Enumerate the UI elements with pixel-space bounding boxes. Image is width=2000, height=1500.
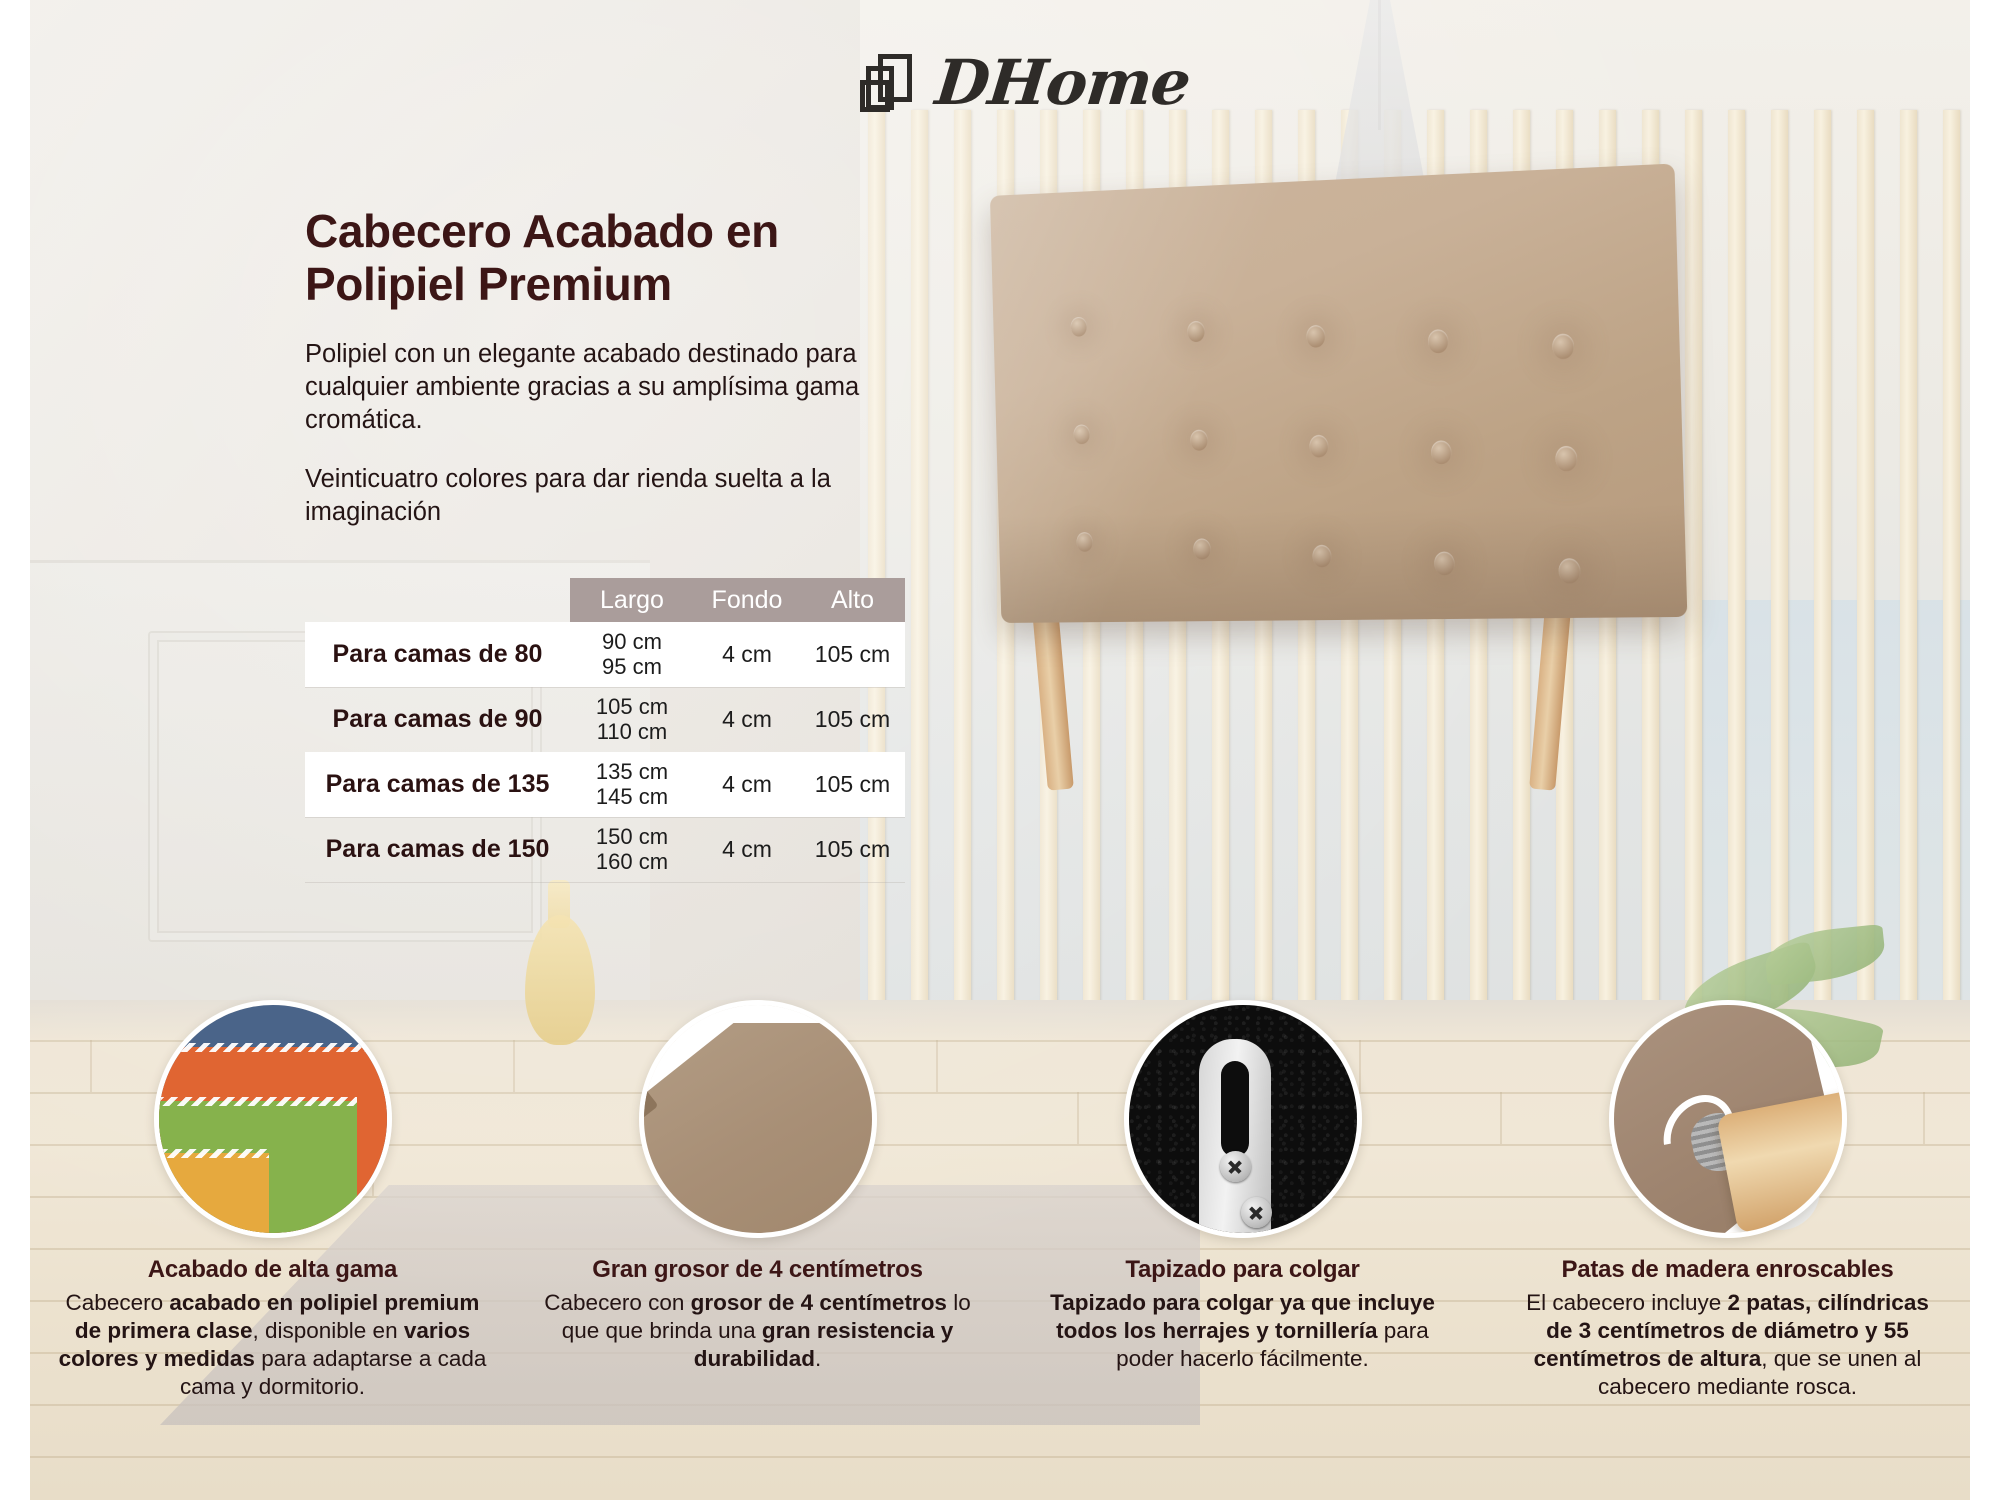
largo-secondary: 145 cm (596, 784, 668, 809)
cell-largo: 135 cm 145 cm (570, 760, 694, 809)
cell-fondo: 4 cm (694, 706, 800, 733)
row-label: Para camas de 150 (305, 835, 570, 864)
cell-alto: 105 cm (800, 641, 905, 668)
title-line-2: Polipiel Premium (305, 258, 672, 310)
table-header-row: Largo Fondo Alto (570, 578, 905, 622)
largo-secondary: 160 cm (596, 849, 668, 874)
cell-largo: 105 cm 110 cm (570, 695, 694, 744)
largo-secondary: 110 cm (597, 719, 668, 744)
cell-alto: 105 cm (800, 771, 905, 798)
cell-alto: 105 cm (800, 836, 905, 863)
screw-in-wooden-leg-icon (1609, 1000, 1847, 1238)
largo-primary: 135 cm (596, 759, 668, 784)
tufting-button (1076, 532, 1093, 552)
brand-name: DHome (932, 46, 1193, 119)
feature-card-grosor: Gran grosor de 4 centímetros Cabecero co… (515, 1000, 1000, 1373)
feature-body: Tapizado para colgar ya que incluye todo… (1000, 1289, 1485, 1373)
feature-card-patas: Patas de madera enroscables El cabecero … (1485, 1000, 1970, 1402)
table-row: Para camas de 135 135 cm 145 cm 4 cm 105… (305, 752, 905, 817)
tufting-button (1555, 446, 1578, 472)
row-label: Para camas de 80 (305, 640, 570, 669)
intro-paragraph-1: Polipiel con un elegante acabado destina… (305, 338, 925, 437)
column-header-alto: Alto (800, 586, 905, 615)
row-label: Para camas de 135 (305, 770, 570, 799)
tufting-buttons (990, 163, 1687, 622)
cell-largo: 150 cm 160 cm (570, 825, 694, 874)
column-header-fondo: Fondo (694, 586, 800, 615)
headboard-panel (990, 163, 1687, 622)
tufting-button (1306, 325, 1325, 348)
cell-largo: 90 cm 95 cm (570, 630, 694, 679)
feature-heading: Gran grosor de 4 centímetros (515, 1256, 1000, 1284)
page-margin-right (1970, 0, 2000, 1500)
page-title: Cabecero Acabado en Polipiel Premium (305, 205, 925, 312)
feature-body: El cabecero incluye 2 patas, cilíndricas… (1485, 1289, 1970, 1402)
feature-card-colgar: Tapizado para colgar Tapizado para colga… (1000, 1000, 1485, 1373)
tufting-button (1190, 430, 1208, 451)
phillips-screw-icon (1241, 1197, 1272, 1228)
tufting-button (1434, 551, 1455, 575)
feature-body: Cabecero con grosor de 4 centímetros lo … (515, 1289, 1000, 1373)
thick-panel-icon (639, 1000, 877, 1238)
tufting-button (1312, 545, 1331, 568)
row-label: Para camas de 90 (305, 705, 570, 734)
feature-card-acabado: Acabado de alta gama Cabecero acabado en… (30, 1000, 515, 1402)
tufting-button (1073, 424, 1090, 444)
copy-block: Cabecero Acabado en Polipiel Premium Pol… (305, 205, 925, 529)
tufting-button (1431, 440, 1452, 464)
dimensions-table: Largo Fondo Alto Para camas de 80 90 cm … (305, 578, 905, 882)
largo-primary: 150 cm (596, 824, 668, 849)
page-margin-left (0, 0, 30, 1500)
tufting-button (1193, 538, 1211, 559)
cell-alto: 105 cm (800, 706, 905, 733)
feature-heading: Patas de madera enroscables (1485, 1256, 1970, 1284)
largo-primary: 105 cm (596, 694, 668, 719)
intro-paragraph-2: Veinticuatro colores para dar rienda sue… (305, 463, 925, 529)
product-photo (975, 150, 1695, 790)
feature-heading: Acabado de alta gama (30, 1256, 515, 1284)
overlapping-rectangles-icon (860, 52, 922, 114)
largo-secondary: 95 cm (602, 654, 662, 679)
tufting-button (1187, 321, 1205, 343)
table-row: Para camas de 150 150 cm 160 cm 4 cm 105… (305, 817, 905, 882)
table-row: Para camas de 80 90 cm 95 cm 4 cm 105 cm (305, 622, 905, 687)
feature-heading: Tapizado para colgar (1000, 1256, 1485, 1284)
cell-fondo: 4 cm (694, 641, 800, 668)
tufting-button (1558, 558, 1581, 584)
largo-primary: 90 cm (602, 629, 662, 654)
title-line-1: Cabecero Acabado en (305, 205, 779, 257)
tufting-button (1070, 317, 1087, 337)
feature-body: Cabecero acabado en polipiel premium de … (30, 1289, 515, 1402)
tufting-button (1309, 435, 1328, 458)
wall-bracket-icon (1124, 1000, 1362, 1238)
tufting-button (1428, 329, 1449, 353)
table-row: Para camas de 90 105 cm 110 cm 4 cm 105 … (305, 687, 905, 752)
features-row: Acabado de alta gama Cabecero acabado en… (30, 1000, 1970, 1500)
infographic-canvas: DHome Cabecero Acabado en Polipiel Premi… (0, 0, 2000, 1500)
fabric-swatches-icon (154, 1000, 392, 1238)
column-header-largo: Largo (570, 586, 694, 615)
tufting-button (1552, 333, 1575, 359)
brand-logo: DHome (860, 46, 1190, 119)
cell-fondo: 4 cm (694, 836, 800, 863)
cell-fondo: 4 cm (694, 771, 800, 798)
phillips-screw-icon (1220, 1151, 1251, 1182)
